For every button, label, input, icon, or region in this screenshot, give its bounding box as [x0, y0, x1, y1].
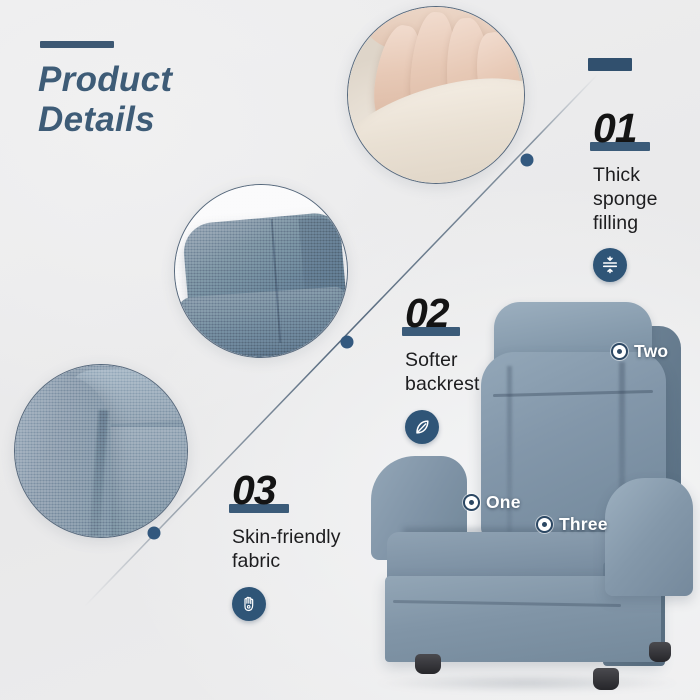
callout-01-number: 01	[593, 108, 637, 153]
callout-01-text: Thick sponge filling	[593, 164, 698, 235]
callout-03-text: Skin-friendly fabric	[232, 526, 362, 574]
chair-marker-one[interactable]: One	[463, 492, 521, 513]
compression-arrows-icon	[593, 248, 627, 282]
corner-accent-dash	[588, 58, 632, 71]
callout-03-number: 03	[232, 470, 276, 515]
page-title: Product Details	[38, 60, 338, 140]
chair-marker-two[interactable]: Two	[611, 341, 668, 362]
chair-foot	[593, 668, 619, 690]
hand-icon	[232, 587, 266, 621]
foam-press-photo	[347, 6, 525, 184]
chair-marker-one-label: One	[486, 492, 521, 513]
backrest-cushion-photo	[174, 184, 348, 358]
callout-02: 02 Softer backrest	[405, 293, 525, 444]
title-accent-dash	[40, 41, 114, 48]
chair-foot	[649, 642, 671, 662]
infographic-canvas: Product Details	[0, 0, 700, 700]
chair-marker-three[interactable]: Three	[536, 514, 608, 535]
chair-marker-two-label: Two	[634, 341, 668, 362]
page-title-line-1: Product	[38, 60, 338, 100]
chair-foot	[415, 654, 441, 674]
callout-03: 03 Skin-friendly fabric	[232, 470, 362, 621]
marker-dot-icon	[463, 494, 480, 511]
page-title-line-2: Details	[38, 100, 338, 140]
marker-dot-icon	[611, 343, 628, 360]
callout-02-text: Softer backrest	[405, 349, 525, 397]
callout-02-number: 02	[405, 293, 449, 338]
callout-01: 01 Thick sponge filling	[593, 108, 698, 282]
leaf-icon	[405, 410, 439, 444]
marker-dot-icon	[536, 516, 553, 533]
chair-marker-three-label: Three	[559, 514, 608, 535]
armrest-fabric-photo	[14, 364, 188, 538]
